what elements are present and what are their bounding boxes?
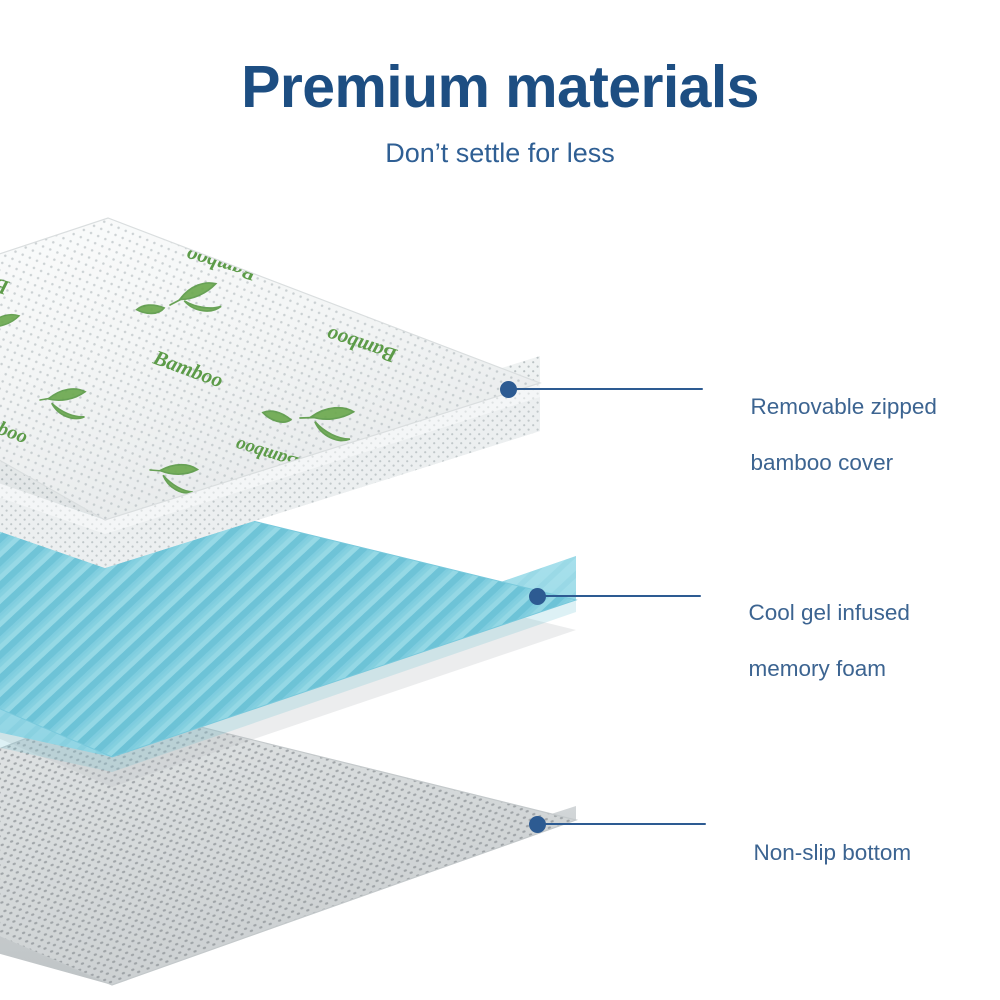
- page-title: Premium materials: [0, 0, 1000, 117]
- page-subtitle: Don’t settle for less: [0, 117, 1000, 167]
- callout-text-line-2: bamboo cover: [751, 450, 894, 475]
- callout-text-line-1: Non-slip bottom: [754, 840, 912, 865]
- callout-label-gel-foam: Cool gel infused memory foam: [711, 571, 910, 711]
- header: Premium materials Don’t settle for less: [0, 0, 1000, 167]
- callout-line-gel-foam: [537, 595, 701, 597]
- callout-label-non-slip-bottom: Non-slip bottom: [716, 811, 911, 895]
- callout-text-line-2: memory foam: [749, 656, 887, 681]
- callout-line-bamboo-cover: [508, 388, 703, 390]
- callout-label-bamboo-cover: Removable zipped bamboo cover: [713, 365, 937, 505]
- callout-text-line-1: Cool gel infused: [749, 600, 910, 625]
- callout-text-line-1: Removable zipped: [751, 394, 937, 419]
- callout-line-non-slip-bottom: [537, 823, 706, 825]
